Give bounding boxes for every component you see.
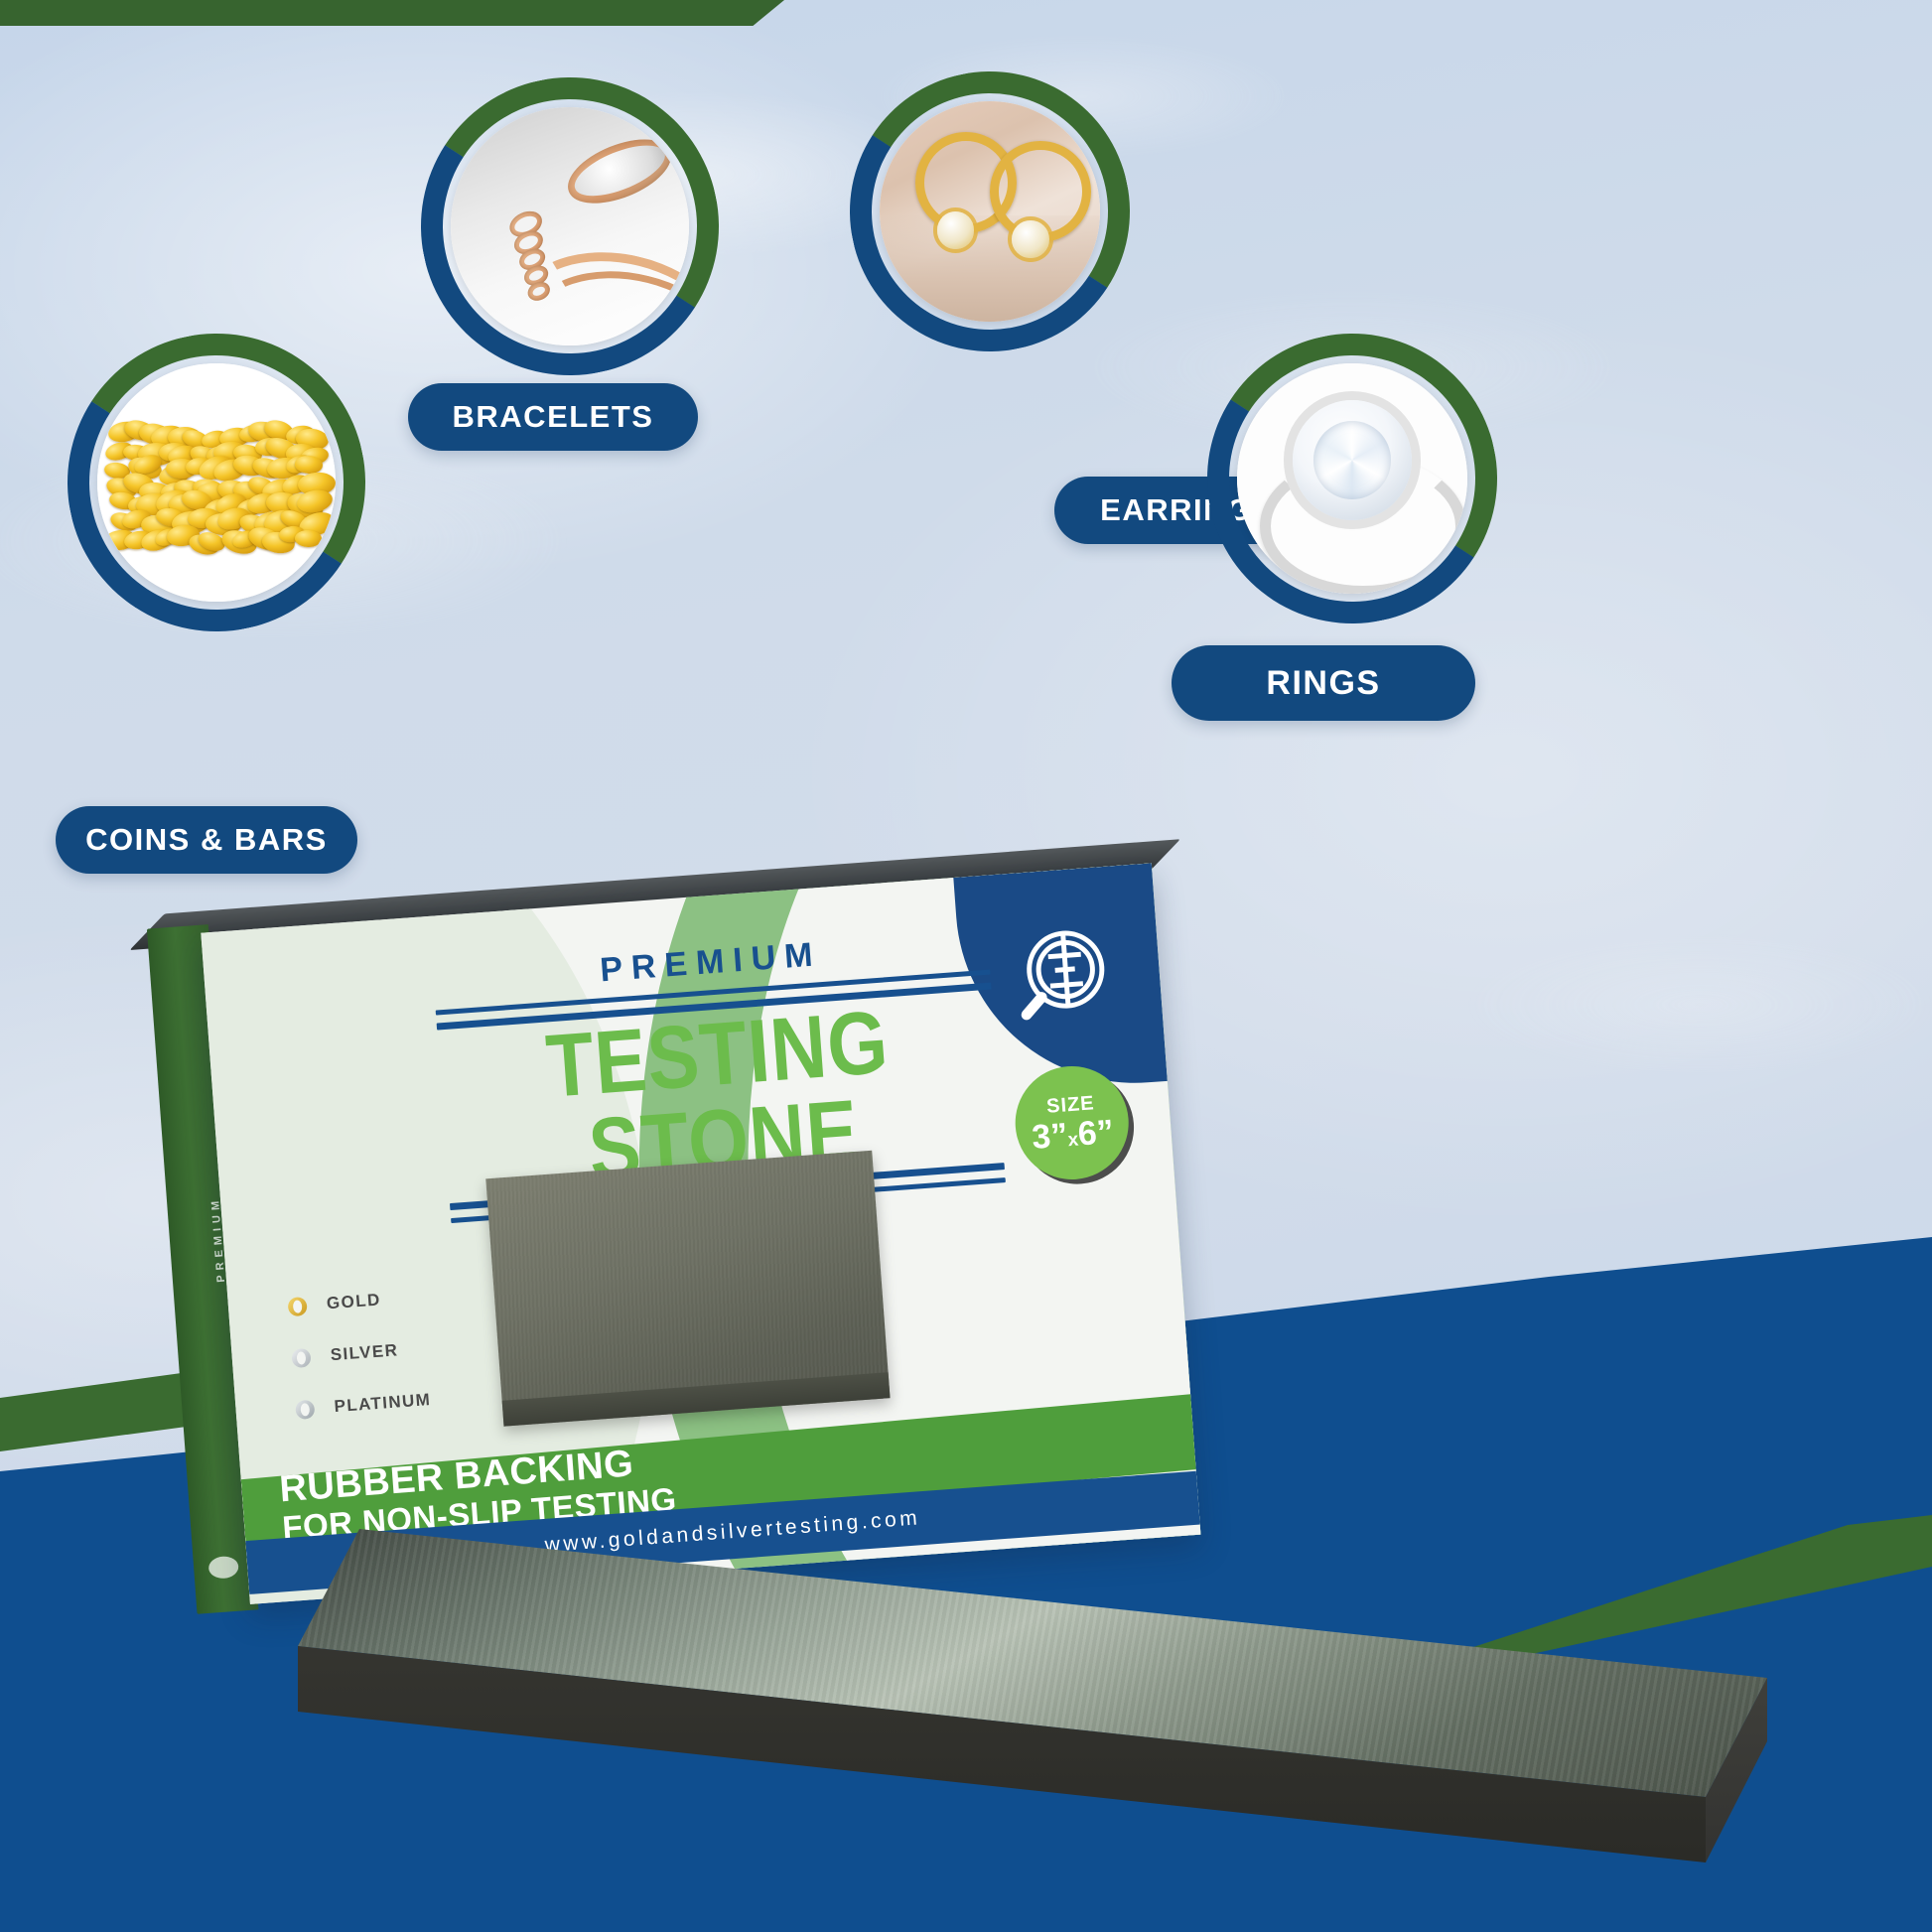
earrings-photo (880, 101, 1100, 322)
category-coins-bars[interactable] (68, 334, 365, 631)
top-green-bar (0, 0, 784, 26)
category-bracelets[interactable] (421, 77, 719, 375)
size-badge-label: SIZE (1045, 1093, 1095, 1116)
metal-label: PLATINUM (334, 1390, 432, 1417)
category-rings[interactable] (1207, 334, 1497, 623)
product-box: PREMIUM TESTING STONE (155, 863, 1209, 1610)
category-label-text: COINS & BARS (85, 822, 328, 858)
metal-list: GOLD SILVER PLATINUM (287, 1287, 434, 1451)
category-label-text: RINGS (1266, 664, 1380, 703)
spine-logo-icon (207, 1556, 239, 1580)
category-label-bracelets[interactable]: BRACELETS (408, 383, 698, 451)
metal-row: PLATINUM (295, 1390, 432, 1420)
category-label-text: BRACELETS (453, 399, 654, 435)
stone-product-image (485, 1151, 890, 1427)
testing-stone-slab (298, 1529, 1767, 1876)
size-width: 3” (1031, 1116, 1069, 1157)
metal-label: GOLD (326, 1290, 381, 1313)
coins-photo (97, 363, 336, 602)
gold-coin (295, 529, 322, 546)
gst-magnifier-monogram-logo (998, 916, 1123, 1041)
metal-row: SILVER (291, 1338, 428, 1368)
metal-label: SILVER (330, 1340, 399, 1365)
size-height: 6” (1076, 1112, 1115, 1153)
size-badge-dimensions: 3”x6” (1031, 1114, 1115, 1154)
box-front-face: PREMIUM TESTING STONE SIZE 3”x6” GOL (201, 863, 1200, 1603)
category-label-rings[interactable]: RINGS (1172, 645, 1475, 721)
category-earrings[interactable] (850, 71, 1130, 351)
category-label-coins-bars[interactable]: COINS & BARS (56, 806, 357, 874)
ring-photo (1237, 363, 1467, 594)
gold-ring-icon (287, 1296, 307, 1315)
poster-canvas: COINS & BARS BRACELETS (0, 0, 1932, 1932)
silver-ring-icon (291, 1347, 311, 1367)
platinum-ring-icon (295, 1399, 315, 1419)
bracelet-photo (451, 107, 689, 345)
